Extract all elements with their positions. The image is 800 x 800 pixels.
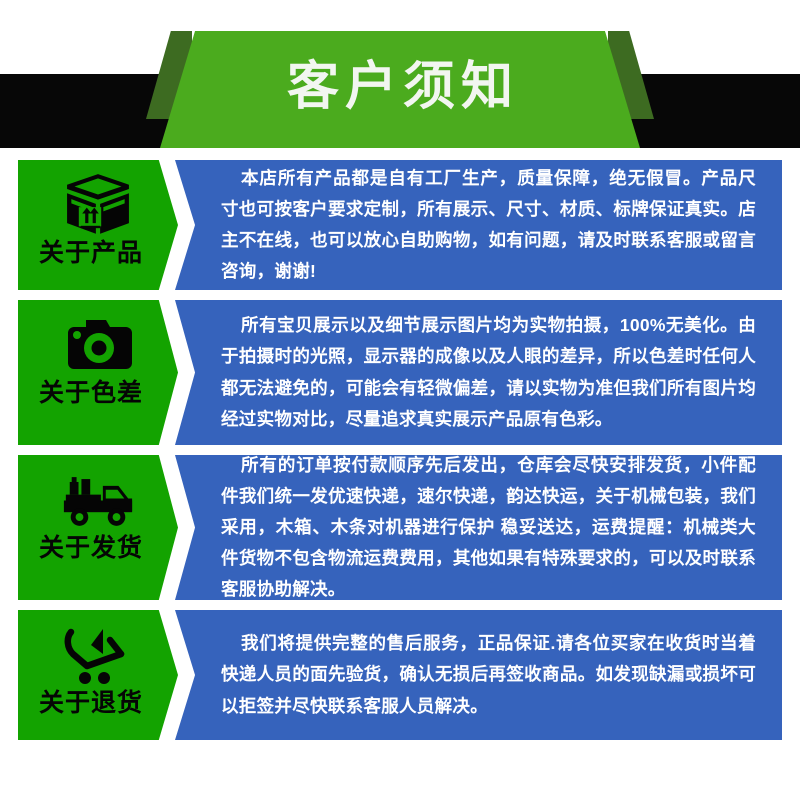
section-icon-tile-return[interactable]: 关于退货	[18, 610, 178, 740]
section-label: 关于产品	[39, 241, 157, 266]
section-label: 关于发货	[39, 536, 157, 561]
section-body: 所有宝贝展示以及细节展示图片均为实物拍摄，100%无美化。由于拍摄时的光照，显示…	[221, 310, 756, 435]
notice-row: 关于色差 所有宝贝展示以及细节展示图片均为实物拍摄，100%无美化。由于拍摄时的…	[0, 300, 800, 445]
section-text-panel-return: 我们将提供完整的售后服务，正品保证.请各位买家在收货时当着快递人员的面先验货，确…	[175, 610, 782, 740]
section-label: 关于退货	[39, 691, 157, 716]
section-label: 关于色差	[39, 381, 157, 406]
notice-sections: 关于产品 本店所有产品都是自有工厂生产，质量保障，绝无假冒。产品尺寸也可按客户要…	[0, 160, 800, 750]
page-title: 客户须知	[281, 61, 519, 119]
section-icon-tile-color[interactable]: 关于色差	[18, 300, 178, 445]
section-text-panel-shipping: 所有的订单按付款顺序先后发出，仓库会尽快安排发货，小件配件我们统一发优速快递，速…	[175, 455, 782, 600]
notice-row: 关于退货 我们将提供完整的售后服务，正品保证.请各位买家在收货时当着快递人员的面…	[0, 610, 800, 740]
cardboard-box-icon	[59, 171, 137, 239]
section-text-panel-color: 所有宝贝展示以及细节展示图片均为实物拍摄，100%无美化。由于拍摄时的光照，显示…	[175, 300, 782, 445]
notice-row: 关于产品 本店所有产品都是自有工厂生产，质量保障，绝无假冒。产品尺寸也可按客户要…	[0, 160, 800, 290]
page-header: 客户须知	[0, 0, 800, 160]
section-body: 所有的订单按付款顺序先后发出，仓库会尽快安排发货，小件配件我们统一发优速快递，速…	[221, 450, 756, 606]
section-text-panel-product: 本店所有产品都是自有工厂生产，质量保障，绝无假冒。产品尺寸也可按客户要求定制，所…	[175, 160, 782, 290]
ribbon-banner: 客户须知	[160, 31, 640, 148]
section-icon-tile-product[interactable]: 关于产品	[18, 160, 178, 290]
truck-icon	[59, 466, 137, 534]
section-body: 我们将提供完整的售后服务，正品保证.请各位买家在收货时当着快递人员的面先验货，确…	[221, 628, 756, 721]
return-cart-icon	[59, 621, 137, 689]
notice-row: 关于发货 所有的订单按付款顺序先后发出，仓库会尽快安排发货，小件配件我们统一发优…	[0, 455, 800, 600]
section-icon-tile-shipping[interactable]: 关于发货	[18, 455, 178, 600]
section-body: 本店所有产品都是自有工厂生产，质量保障，绝无假冒。产品尺寸也可按客户要求定制，所…	[221, 163, 756, 288]
camera-icon	[59, 311, 137, 379]
